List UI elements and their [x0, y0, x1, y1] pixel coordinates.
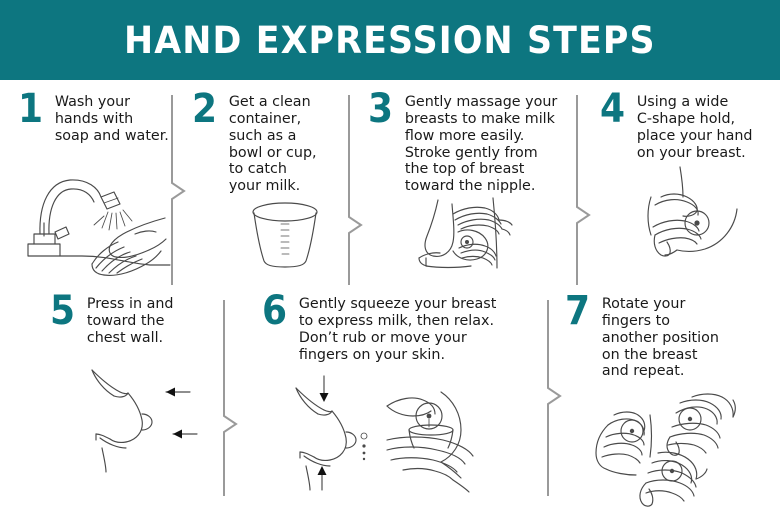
step-1-text: Wash your hands with soap and water. — [55, 93, 169, 145]
step-3-text: Gently massage your breasts to make milk… — [405, 93, 557, 195]
step-4-text: Using a wide C-shape hold, place your ha… — [637, 93, 753, 161]
hold-position-left — [596, 412, 652, 475]
step-5-head: 5 Press in and toward the chest wall. — [50, 295, 200, 347]
step-4: 4 Using a wide C-shape hold, place your … — [600, 93, 770, 161]
rotate-fingers-positions-illustration — [580, 385, 780, 510]
step-7: 7 Rotate your fingers to another positio… — [565, 295, 765, 380]
hold-position-top-right — [667, 394, 735, 455]
arrow-lower — [173, 430, 197, 439]
hand-expression-infographic: HAND EXPRESSION STEPS 1 Wash your hands … — [0, 0, 780, 512]
arrow-down — [320, 376, 329, 402]
step-5: 5 Press in and toward the chest wall. — [50, 295, 200, 347]
c-hold-breast-illustration — [625, 165, 770, 275]
divider-after-step-2 — [347, 95, 365, 285]
step-3-number: 3 — [368, 93, 393, 126]
step-2: 2 Get a clean container, such as a bowl … — [192, 93, 342, 195]
hand-expressing-into-container-illustration — [385, 378, 545, 496]
step-2-number: 2 — [192, 93, 217, 126]
step-5-text: Press in and toward the chest wall. — [87, 295, 174, 347]
divider-after-step-6 — [546, 300, 564, 496]
step-2-head: 2 Get a clean container, such as a bowl … — [192, 93, 342, 195]
step-5-number: 5 — [50, 295, 75, 328]
hold-position-bottom — [640, 452, 707, 506]
step-2-text: Get a clean container, such as a bowl or… — [229, 93, 317, 195]
press-toward-chest-wall-illustration — [62, 362, 212, 474]
step-4-head: 4 Using a wide C-shape hold, place your … — [600, 93, 770, 161]
arrow-up — [318, 466, 327, 490]
step-6-number: 6 — [262, 295, 287, 328]
divider-after-step-3 — [575, 95, 593, 285]
step-1: 1 Wash your hands with soap and water. — [18, 93, 183, 145]
step-3: 3 Gently massage your breasts to make mi… — [368, 93, 568, 195]
measuring-cup-illustration — [245, 200, 325, 272]
step-1-head: 1 Wash your hands with soap and water. — [18, 93, 183, 145]
step-1-number: 1 — [18, 93, 43, 126]
step-7-number: 7 — [565, 295, 590, 328]
page-title: HAND EXPRESSION STEPS — [124, 22, 656, 59]
header-bar: HAND EXPRESSION STEPS — [0, 0, 780, 80]
massage-breast-illustration — [405, 196, 545, 286]
step-7-text: Rotate your fingers to another position … — [602, 295, 719, 380]
step-4-number: 4 — [600, 93, 625, 126]
squeeze-breast-illustration — [282, 372, 402, 492]
arrow-upper — [166, 388, 190, 397]
divider-after-step-1 — [170, 95, 188, 285]
step-7-head: 7 Rotate your fingers to another positio… — [565, 295, 765, 380]
step-6-head: 6 Gently squeeze your breast to express … — [262, 295, 532, 363]
step-6-text: Gently squeeze your breast to express mi… — [299, 295, 496, 363]
step-6: 6 Gently squeeze your breast to express … — [262, 295, 532, 363]
step-3-head: 3 Gently massage your breasts to make mi… — [368, 93, 568, 195]
faucet-washing-hands-illustration — [22, 168, 172, 280]
divider-after-step-5 — [222, 300, 240, 496]
